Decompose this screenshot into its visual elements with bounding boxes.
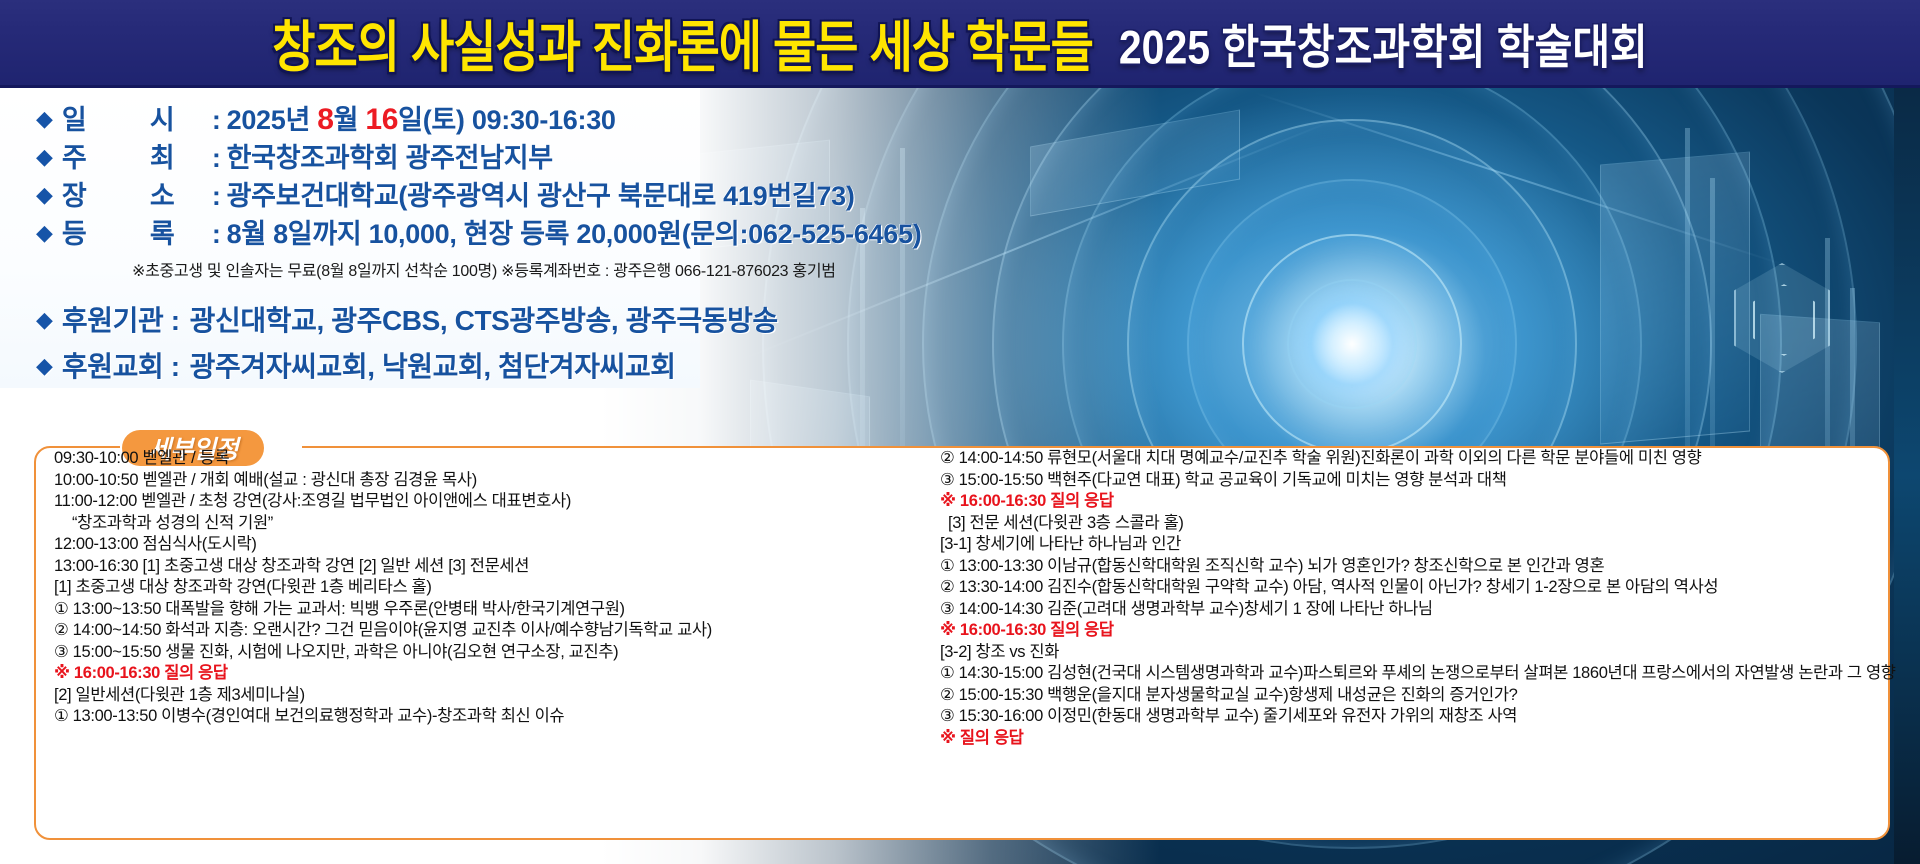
info-label-venue-a: 장 — [62, 174, 92, 213]
info-label-reg-a: 등 — [62, 212, 92, 251]
schedule-left-line: “창조과학과 성경의 신적 기원” — [54, 513, 920, 535]
schedule-right-line: ③ 15:30-16:00 이정민(한동대 생명과학부 교수) 줄기세포와 유전… — [940, 706, 1876, 728]
schedule-columns: 09:30-10:00 벧엘관 / 등록10:00-10:50 벧엘관 / 개회… — [34, 448, 1890, 749]
schedule-right-line: ② 13:30-14:00 김진수(합동신학대학원 구약학 교수) 아담, 역사… — [940, 577, 1876, 599]
schedule-left-line: ① 13:00-13:50 이병수(경인여대 보건의료행정학과 교수)-창조과학… — [54, 706, 920, 728]
info-value-registration: 8월 8일까지 10,000, 현장 등록 20,000원(문의:062-525… — [227, 212, 922, 251]
schedule-right-line: [3-2] 창조 vs 진화 — [940, 642, 1876, 664]
info-value-date-day: 16 — [365, 103, 398, 136]
info-label-date-a: 일 — [62, 98, 92, 137]
schedule-section: 세부일정 09:30-10:00 벧엘관 / 등록10:00-10:50 벧엘관… — [34, 430, 1890, 840]
schedule-right-line: ③ 14:00-14:30 김준(고려대 생명과학부 교수)창세기 1 장에 나… — [940, 599, 1876, 621]
info-colon-date: : — [212, 105, 221, 136]
poster-title-subtitle: 2025 한국창조과학회 학술대회 — [1119, 8, 1648, 77]
light-burst — [1292, 284, 1412, 404]
info-colon-host: : — [212, 143, 221, 174]
schedule-column-left: 09:30-10:00 벧엘관 / 등록10:00-10:50 벧엘관 / 개회… — [34, 448, 934, 749]
info-label-reg-b: 록 — [150, 212, 212, 251]
sponsor-churches-label: 후원교회 : — [62, 345, 180, 385]
info-label-host-b: 최 — [150, 136, 212, 175]
diamond-bullet-icon: ◆ — [36, 184, 53, 206]
schedule-right-line: [3-1] 창세기에 나타난 하나님과 인간 — [940, 534, 1876, 556]
schedule-right-line: ① 13:00-13:30 이남규(합동신학대학원 조직신학 교수) 뇌가 영혼… — [940, 556, 1876, 578]
info-colon-reg: : — [212, 219, 221, 250]
info-label-venue-b: 소 — [150, 174, 212, 213]
info-row-date: ◆ 일 시 : 2025년 8월 16일(토) 09:30-16:30 — [36, 98, 1036, 136]
diamond-bullet-icon: ◆ — [36, 309, 53, 331]
info-value-venue: 광주보건대학교(광주광역시 광산구 북문대로 419번길73) — [227, 174, 855, 213]
schedule-right-line: ② 14:00-14:50 류현모(서울대 치대 명예교수/교진추 학술 위원)… — [940, 448, 1876, 470]
info-value-date-post: 일(토) 09:30-16:30 — [398, 105, 615, 135]
diamond-bullet-icon: ◆ — [36, 108, 53, 130]
info-value-date-month: 8 — [317, 103, 333, 136]
info-row-host: ◆ 주 최 : 한국창조과학회 광주전남지부 — [36, 136, 1036, 174]
schedule-left-line: ② 14:00~14:50 화석과 지층: 오랜시간? 그건 믿음이야(윤지영 … — [54, 620, 920, 642]
info-row-registration: ◆ 등 록 : 8월 8일까지 10,000, 현장 등록 20,000원(문의… — [36, 212, 1036, 250]
sponsor-orgs-label: 후원기관 : — [62, 299, 180, 339]
poster-header: 창조의 사실성과 진화론에 물든 세상 학문들 2025 한국창조과학회 학술대… — [0, 0, 1920, 88]
conference-poster: 창조의 사실성과 진화론에 물든 세상 학문들 2025 한국창조과학회 학술대… — [0, 0, 1920, 864]
sponsor-orgs-value: 광신대학교, 광주CBS, CTS광주방송, 광주극동방송 — [190, 299, 778, 339]
info-label-date-b: 시 — [150, 98, 212, 137]
diamond-bullet-icon: ◆ — [36, 146, 53, 168]
schedule-column-right: ② 14:00-14:50 류현모(서울대 치대 명예교수/교진추 학술 위원)… — [934, 448, 1890, 749]
schedule-right-line: ※ 16:00-16:30 질의 응답 — [940, 491, 1876, 513]
schedule-left-line: 11:00-12:00 벧엘관 / 초청 강연(강사:조영길 법무법인 아이앤에… — [54, 491, 920, 513]
poster-title-main: 창조의 사실성과 진화론에 물든 세상 학문들 — [272, 2, 1093, 83]
info-value-date-mid: 월 — [334, 105, 366, 135]
schedule-left-line: 09:30-10:00 벧엘관 / 등록 — [54, 448, 920, 470]
schedule-left-line: ① 13:00~13:50 대폭발을 향해 가는 교과서: 빅뱅 우주론(안병태… — [54, 599, 920, 621]
event-info-block: ◆ 일 시 : 2025년 8월 16일(토) 09:30-16:30 ◆ 주 … — [36, 98, 1036, 387]
schedule-left-line: [1] 초중고생 대상 창조과학 강연(다윗관 1층 베리타스 홀) — [54, 577, 920, 599]
schedule-right-line: ② 15:00-15:30 백행운(을지대 분자생물학교실 교수)항생제 내성균… — [940, 685, 1876, 707]
schedule-left-line: 12:00-13:00 점심식사(도시락) — [54, 534, 920, 556]
info-value-date-pre: 2025년 — [227, 105, 318, 135]
diamond-bullet-icon: ◆ — [36, 355, 53, 377]
schedule-right-line: ※ 질의 응답 — [940, 728, 1876, 750]
info-row-venue: ◆ 장 소 : 광주보건대학교(광주광역시 광산구 북문대로 419번길73) — [36, 174, 1036, 212]
sponsor-churches-value: 광주겨자씨교회, 낙원교회, 첨단겨자씨교회 — [190, 345, 676, 385]
registration-note: ※초중고생 및 인솔자는 무료(8월 8일까지 선착순 100명) ※등록계좌번… — [132, 257, 1036, 281]
schedule-right-line: ※ 16:00-16:30 질의 응답 — [940, 620, 1876, 642]
diamond-bullet-icon: ◆ — [36, 222, 53, 244]
schedule-right-line: [3] 전문 세션(다윗관 3층 스콜라 홀) — [940, 513, 1876, 535]
right-edge-strip — [1894, 88, 1920, 864]
sponsor-churches-row: ◆ 후원교회 : 광주겨자씨교회, 낙원교회, 첨단겨자씨교회 — [36, 345, 1036, 387]
schedule-left-line: ※ 16:00-16:30 질의 응답 — [54, 663, 920, 685]
sponsor-orgs-row: ◆ 후원기관 : 광신대학교, 광주CBS, CTS광주방송, 광주극동방송 — [36, 299, 1036, 341]
schedule-left-line: ③ 15:00~15:50 생물 진화, 시험에 나오지만, 과학은 아니야(김… — [54, 642, 920, 664]
info-colon-venue: : — [212, 181, 221, 212]
schedule-left-line: 13:00-16:30 [1] 초중고생 대상 창조과학 강연 [2] 일반 세… — [54, 556, 920, 578]
info-label-host-a: 주 — [62, 136, 92, 175]
info-value-host: 한국창조과학회 광주전남지부 — [227, 136, 553, 175]
schedule-left-line: [2] 일반세션(다윗관 1층 제3세미나실) — [54, 685, 920, 707]
schedule-right-line: ③ 15:00-15:50 백현주(다교연 대표) 학교 공교육이 기독교에 미… — [940, 470, 1876, 492]
schedule-right-line: ① 14:30-15:00 김성현(건국대 시스템생명과학과 교수)파스퇴르와 … — [940, 663, 1876, 685]
schedule-left-line: 10:00-10:50 벧엘관 / 개회 예배(설교 : 광신대 총장 김경윤 … — [54, 470, 920, 492]
